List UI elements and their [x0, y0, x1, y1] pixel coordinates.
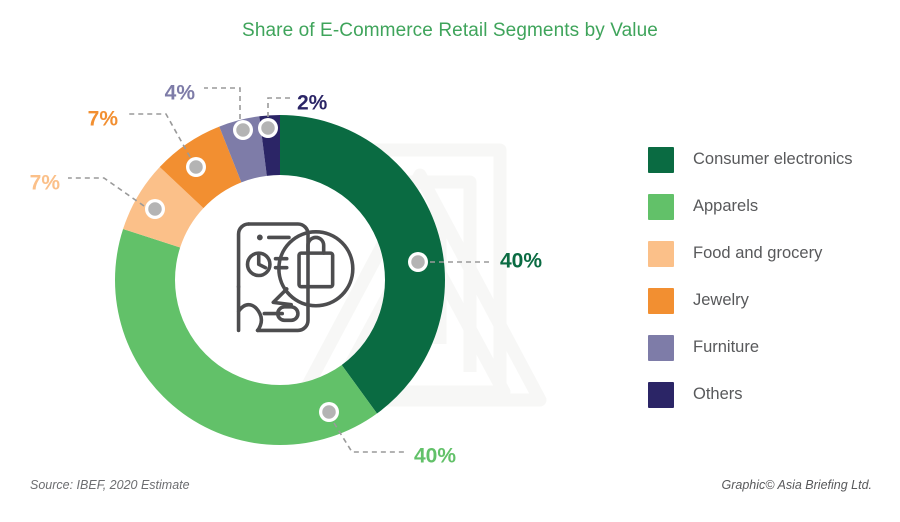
leader-line-others — [268, 98, 290, 117]
chart-canvas: Share of E-Commerce Retail Segments by V… — [0, 0, 900, 522]
legend-item-furniture[interactable]: Furniture — [648, 324, 898, 371]
leader-line-furniture — [204, 88, 240, 119]
legend-swatch-icon — [648, 335, 674, 361]
legend-swatch-icon — [648, 288, 674, 314]
mobile-shopping-icon — [239, 224, 353, 330]
data-marker-furniture[interactable] — [236, 123, 251, 138]
value-label-others: 2% — [297, 92, 328, 115]
legend-item-label: Others — [693, 385, 743, 404]
data-marker-food-and-grocery[interactable] — [148, 202, 163, 217]
donut-chart: 40%40%7%7%4%2% — [0, 0, 660, 470]
legend-item-label: Furniture — [693, 338, 759, 357]
legend-item-jewelry[interactable]: Jewelry — [648, 277, 898, 324]
value-label-furniture: 4% — [165, 82, 196, 105]
donut-chart-svg: 40%40%7%7%4%2% — [0, 0, 660, 470]
data-marker-apparels[interactable] — [322, 405, 337, 420]
data-marker-jewelry[interactable] — [189, 160, 204, 175]
legend-item-label: Consumer electronics — [693, 150, 853, 169]
legend-item-food-and-grocery[interactable]: Food and grocery — [648, 230, 898, 277]
legend-swatch-icon — [648, 382, 674, 408]
value-label-apparels: 40% — [414, 445, 456, 468]
legend-swatch-icon — [648, 241, 674, 267]
data-marker-consumer-electronics[interactable] — [411, 255, 426, 270]
value-label-consumer-electronics: 40% — [500, 250, 542, 273]
legend-item-consumer-electronics[interactable]: Consumer electronics — [648, 136, 898, 183]
leader-line-food-and-grocery — [68, 178, 144, 206]
legend-item-label: Food and grocery — [693, 244, 822, 263]
legend-item-label: Apparels — [693, 197, 758, 216]
value-label-food-and-grocery: 7% — [30, 172, 61, 195]
legend-swatch-icon — [648, 147, 674, 173]
legend-item-apparels[interactable]: Apparels — [648, 183, 898, 230]
data-marker-others[interactable] — [261, 121, 276, 136]
legend-swatch-icon — [648, 194, 674, 220]
chart-legend: Consumer electronicsApparelsFood and gro… — [648, 136, 898, 418]
legend-item-others[interactable]: Others — [648, 371, 898, 418]
credit-note: Graphic© Asia Briefing Ltd. — [722, 478, 872, 492]
source-note: Source: IBEF, 2020 Estimate — [30, 478, 190, 492]
legend-item-label: Jewelry — [693, 291, 749, 310]
value-label-jewelry: 7% — [88, 108, 119, 131]
